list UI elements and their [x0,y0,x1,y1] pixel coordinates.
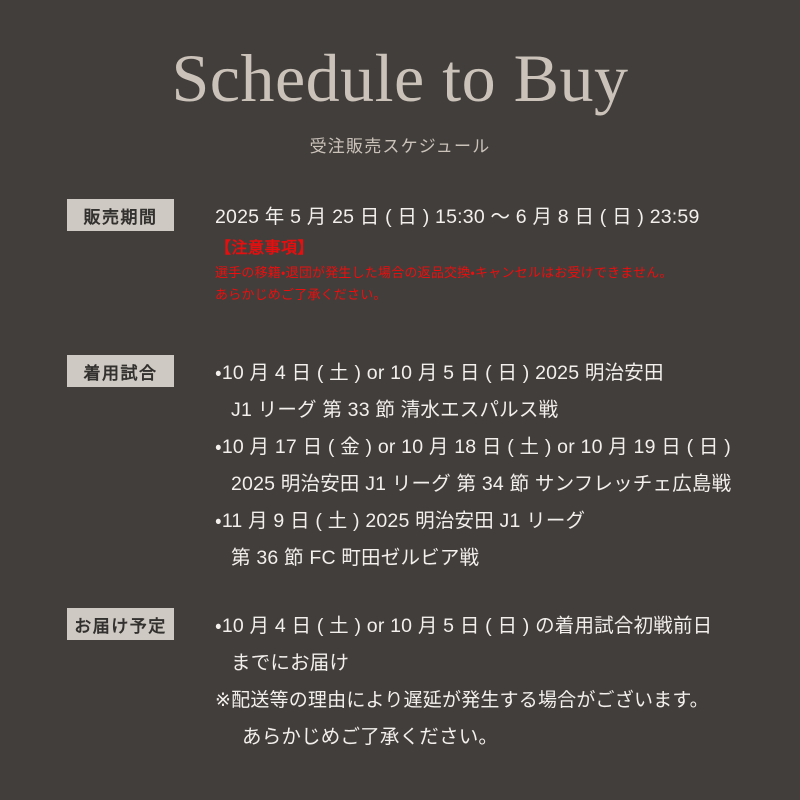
match-list-item: ・10 月 17 日 ( 金 ) or 10 月 18 日 ( 土 ) or 1… [215,429,775,466]
match-list-item-continued: J1 リーグ 第 33 節 清水エスパルス戦 [215,392,775,429]
caution-line: あらかじめご了承ください。 [215,284,775,306]
sales-period-value: 2025 年 5 月 25 日 ( 日 ) 15:30 〜 6 月 8 日 ( … [215,199,775,236]
match-list-item-continued: 2025 明治安田 J1 リーグ 第 34 節 サンフレッチェ広島戦 [215,466,775,503]
delivery-note-continued: あらかじめご了承ください。 [215,719,775,756]
schedule-announcement-page: Schedule to Buy 受注販売スケジュール 販売期間 2025 年 5… [0,0,800,800]
section-label-sales-period: 販売期間 [67,199,174,231]
delivery-list-item-continued: までにお届け [215,645,775,682]
page-subtitle: 受注販売スケジュール [0,132,800,157]
delivery-list-item: ・10 月 4 日 ( 土 ) or 10 月 5 日 ( 日 ) の着用試合初… [215,608,775,645]
section-label-delivery: お届け予定 [67,608,174,640]
section-body-match-worn: ・10 月 4 日 ( 土 ) or 10 月 5 日 ( 日 ) 2025 明… [215,355,775,577]
page-header: Schedule to Buy 受注販売スケジュール [0,44,800,157]
caution-heading: 【注意事項】 [215,236,775,262]
match-list-item: ・10 月 4 日 ( 土 ) or 10 月 5 日 ( 日 ) 2025 明… [215,355,775,392]
match-list-item-continued: 第 36 節 FC 町田ゼルビア戦 [215,540,775,577]
section-label-match-worn: 着用試合 [67,355,174,387]
page-title: Schedule to Buy [0,44,800,112]
match-list-item: ・11 月 9 日 ( 土 ) 2025 明治安田 J1 リーグ [215,503,775,540]
section-body-sales-period: 2025 年 5 月 25 日 ( 日 ) 15:30 〜 6 月 8 日 ( … [215,199,775,306]
section-body-delivery: ・10 月 4 日 ( 土 ) or 10 月 5 日 ( 日 ) の着用試合初… [215,608,775,756]
delivery-note: ※配送等の理由により遅延が発生する場合がございます。 [215,682,775,719]
caution-line: 選手の移籍・退団が発生した場合の返品交換・キャンセルはお受けできません。 [215,262,775,284]
